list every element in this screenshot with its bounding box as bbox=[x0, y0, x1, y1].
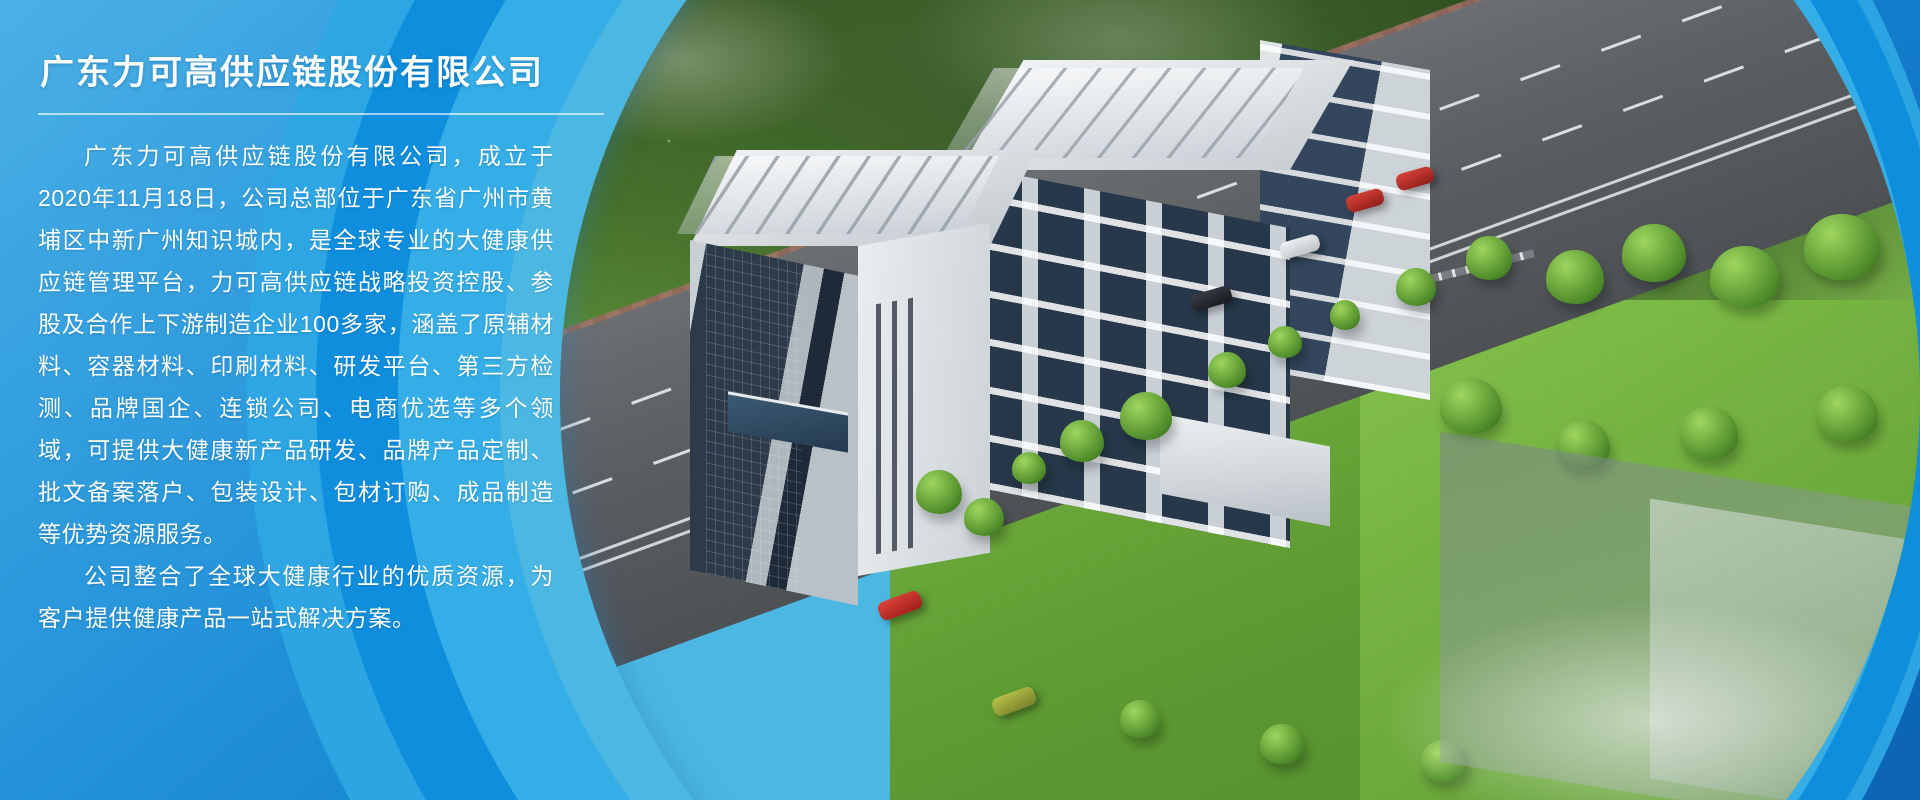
tree bbox=[1268, 326, 1302, 358]
tree bbox=[916, 470, 962, 514]
company-photo bbox=[560, 0, 1920, 800]
tree bbox=[1208, 352, 1246, 388]
tree bbox=[1680, 406, 1738, 460]
tree bbox=[1396, 268, 1436, 306]
tree bbox=[1060, 420, 1104, 462]
wing-roof-rail bbox=[942, 68, 1304, 158]
tree bbox=[1330, 300, 1360, 330]
title-divider bbox=[38, 113, 604, 115]
company-photo-scene bbox=[560, 0, 1920, 800]
photo-haze-overlay bbox=[1380, 600, 1920, 800]
tree bbox=[1710, 246, 1780, 308]
tree bbox=[1622, 224, 1686, 282]
hero-banner: 广东力可高供应链股份有限公司 广东力可高供应链股份有限公司，成立于2020年11… bbox=[0, 0, 1920, 800]
tree bbox=[1466, 236, 1512, 280]
tower-window-slits bbox=[876, 296, 924, 554]
intro-body: 广东力可高供应链股份有限公司，成立于2020年11月18日，公司总部位于广东省广… bbox=[38, 135, 554, 639]
tree bbox=[1012, 452, 1046, 484]
tree bbox=[1804, 214, 1880, 280]
tree bbox=[1546, 250, 1604, 304]
tree bbox=[1260, 724, 1304, 764]
tower-roof-rail bbox=[677, 156, 999, 234]
tree bbox=[1816, 386, 1878, 442]
tree bbox=[1440, 378, 1502, 434]
intro-panel: 广东力可高供应链股份有限公司 广东力可高供应链股份有限公司，成立于2020年11… bbox=[0, 0, 640, 800]
intro-paragraph-2: 公司整合了全球大健康行业的优质资源，为客户提供健康产品一站式解决方案。 bbox=[38, 555, 554, 639]
tree bbox=[964, 498, 1004, 536]
tree bbox=[1120, 392, 1172, 440]
intro-paragraph-1: 广东力可高供应链股份有限公司，成立于2020年11月18日，公司总部位于广东省广… bbox=[38, 135, 554, 555]
page-title: 广东力可高供应链股份有限公司 bbox=[38, 52, 600, 95]
tree bbox=[1120, 700, 1160, 738]
